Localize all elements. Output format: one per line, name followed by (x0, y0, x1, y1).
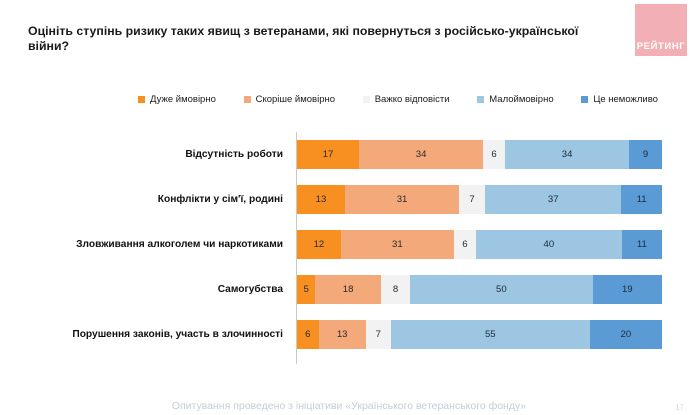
category-label: Конфлікти у сім'ї, родині (28, 194, 292, 206)
bar-segment-value: 17 (323, 150, 334, 160)
bar-segment: 31 (345, 185, 459, 214)
stacked-bar: 123164011 (297, 230, 662, 259)
legend-item-3[interactable]: Малоймовірно (477, 95, 553, 105)
bar-segment: 31 (341, 230, 454, 259)
bar-segment: 34 (359, 140, 483, 169)
bar-segment: 18 (315, 275, 381, 304)
bar-segment-value: 7 (376, 330, 381, 340)
legend-item-label: Скоріше ймовірно (256, 95, 335, 105)
legend-swatch-icon (477, 96, 484, 103)
footer-note: Опитування проведено з ініціативи «Украї… (129, 401, 569, 413)
bar-segment-value: 20 (620, 330, 631, 340)
legend-item-4[interactable]: Це неможливо (581, 95, 658, 105)
bar-segment: 8 (381, 275, 410, 304)
legend-item-label: Це неможливо (593, 95, 658, 105)
bar-segment: 20 (590, 320, 662, 349)
page-number: 17 (675, 404, 684, 412)
bar-segment-value: 11 (637, 240, 647, 250)
bar-segment-value: 6 (462, 240, 467, 250)
stacked-bar: 51885019 (297, 275, 662, 304)
bar-segment-value: 13 (316, 195, 327, 205)
bar-segment-value: 37 (548, 195, 559, 205)
bar-segment: 55 (391, 320, 590, 349)
bar-segment-value: 55 (485, 330, 496, 340)
category-label: Відсутність роботи (28, 149, 292, 161)
bar-segment: 6 (297, 320, 319, 349)
bar-segment: 7 (459, 185, 485, 214)
bar-segment: 11 (622, 230, 662, 259)
bar-segment-value: 34 (562, 150, 573, 160)
bar-segment-value: 31 (392, 240, 403, 250)
legend-item-label: Дуже ймовірно (150, 95, 216, 105)
chart-row: Зловживання алкоголем чи наркотиками1231… (28, 222, 662, 267)
bar-segment: 6 (454, 230, 476, 259)
chart-rows: Відсутність роботи17346349Конфлікти у сі… (28, 132, 662, 364)
bar-segment: 12 (297, 230, 341, 259)
legend-swatch-icon (581, 96, 588, 103)
rating-logo-text: РЕЙТИНГ (637, 42, 686, 52)
slide-canvas: РЕЙТИНГ Оцініть ступінь ризику таких яви… (0, 0, 690, 415)
stacked-bar: 61375520 (297, 320, 662, 349)
stacked-bar-chart: Відсутність роботи17346349Конфлікти у сі… (28, 132, 662, 364)
bar-segment-value: 9 (643, 150, 648, 160)
bar-segment-value: 50 (496, 285, 507, 295)
bar-segment: 13 (297, 185, 345, 214)
bar-segment-value: 19 (622, 285, 633, 295)
bar-segment-value: 18 (343, 285, 354, 295)
chart-legend: Дуже ймовірноСкоріше ймовірноВажко відпо… (138, 95, 658, 105)
bar-segment-value: 8 (393, 285, 398, 295)
bar-segment: 37 (485, 185, 621, 214)
bar-segment: 34 (505, 140, 629, 169)
legend-item-0[interactable]: Дуже ймовірно (138, 95, 216, 105)
bar-segment-value: 12 (314, 240, 325, 250)
bar-segment-value: 40 (543, 240, 554, 250)
bar-segment: 17 (297, 140, 359, 169)
category-label: Порушення законів, участь в злочинності (28, 329, 292, 341)
bar-segment: 13 (319, 320, 366, 349)
bar-segment-value: 34 (416, 150, 427, 160)
legend-item-1[interactable]: Скоріше ймовірно (244, 95, 335, 105)
chart-row: Порушення законів, участь в злочинності6… (28, 312, 662, 357)
bar-segment: 9 (629, 140, 662, 169)
legend-swatch-icon (138, 96, 145, 103)
stacked-bar: 133173711 (297, 185, 662, 214)
bar-segment-value: 31 (397, 195, 408, 205)
bar-segment-value: 5 (303, 285, 308, 295)
bar-segment-value: 13 (337, 330, 348, 340)
bar-segment: 6 (483, 140, 505, 169)
legend-item-label: Малоймовірно (489, 95, 553, 105)
chart-row: Відсутність роботи17346349 (28, 132, 662, 177)
bar-segment: 11 (621, 185, 662, 214)
stacked-bar: 17346349 (297, 140, 662, 169)
page-title: Оцініть ступінь ризику таких явищ з вете… (28, 24, 618, 55)
bar-segment-value: 6 (305, 330, 310, 340)
category-label: Зловживання алкоголем чи наркотиками (28, 239, 292, 251)
rating-logo: РЕЙТИНГ (635, 4, 687, 56)
bar-segment: 7 (366, 320, 391, 349)
bar-segment-value: 11 (637, 195, 647, 205)
legend-swatch-icon (244, 96, 251, 103)
legend-item-2[interactable]: Важко відповісти (363, 95, 450, 105)
chart-row: Конфлікти у сім'ї, родині133173711 (28, 177, 662, 222)
bar-segment-value: 7 (469, 195, 474, 205)
category-label: Самогубства (28, 284, 292, 296)
bar-segment: 5 (297, 275, 315, 304)
legend-item-label: Важко відповісти (375, 95, 450, 105)
bar-segment: 19 (593, 275, 662, 304)
bar-segment: 40 (476, 230, 622, 259)
chart-row: Самогубства51885019 (28, 267, 662, 312)
bar-segment: 50 (410, 275, 593, 304)
bar-segment-value: 6 (491, 150, 496, 160)
legend-swatch-icon (363, 96, 370, 103)
